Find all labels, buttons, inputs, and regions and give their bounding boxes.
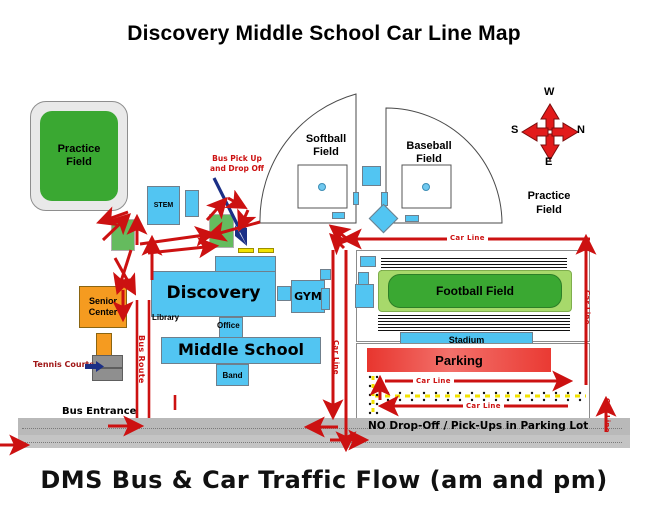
- football-field[interactable]: Football Field: [388, 274, 562, 308]
- building-band[interactable]: Band: [216, 364, 249, 386]
- building-band-label: Band: [223, 371, 243, 380]
- building-middle-school-label: Middle School: [178, 340, 304, 359]
- field-structure-4: [332, 212, 345, 219]
- bus-marker-2: [258, 248, 274, 253]
- building-gym-label: GYM: [294, 290, 322, 303]
- building-annex-1[interactable]: [185, 190, 199, 217]
- car-line-map: Discovery Middle School Car Line Map Pra…: [0, 0, 648, 512]
- tennis-courts-arrow-icon: [85, 360, 105, 374]
- building-senior-center[interactable]: SeniorCenter: [79, 286, 127, 328]
- senior-center-annex: [96, 333, 112, 356]
- football-field-label: Football Field: [436, 284, 514, 298]
- building-stem-label: STEM: [154, 202, 173, 209]
- compass-label-left: S: [511, 124, 518, 136]
- field-structure-2: [353, 192, 359, 205]
- practice-field-left-border: Practice Field: [30, 101, 128, 211]
- compass-label-right: N: [577, 124, 585, 136]
- stadium-annex-1: [360, 256, 376, 267]
- stadium-annex-3: [355, 284, 374, 308]
- car-line-top: Car Line: [447, 234, 488, 242]
- softball-field-label: SoftballField: [295, 133, 357, 159]
- bus-drop-arrow-icon: [205, 176, 253, 248]
- building-office-label: Office: [217, 321, 240, 330]
- no-dropoff-label: NO Drop-Off / Pick-Ups in Parking Lot: [368, 420, 588, 432]
- practice-field-left-label: Practice Field: [58, 143, 101, 168]
- page-title: Discovery Middle School Car Line Map: [0, 22, 648, 46]
- car-line-lot-upper: Car Line: [413, 377, 454, 385]
- car-line-right-outer: Car Line: [583, 290, 591, 325]
- bleachers-bottom: [378, 315, 570, 333]
- bus-pickup-label: Bus Pick Upand Drop Off: [190, 154, 284, 174]
- building-library-label: Library: [152, 313, 179, 322]
- car-line-lot-lower: Car Line: [463, 402, 504, 410]
- page-caption: DMS Bus & Car Traffic Flow (am and pm): [0, 466, 648, 494]
- baseball-field-label: BaseballField: [398, 140, 460, 166]
- compass-label-top: W: [544, 86, 554, 98]
- practice-field-right-label: PracticeField: [513, 190, 585, 218]
- practice-field-left[interactable]: Practice Field: [40, 111, 118, 201]
- building-discovery-label: Discovery: [167, 283, 261, 303]
- road-edgeline: [22, 442, 622, 443]
- bus-route-label: Bus Route: [137, 335, 146, 384]
- parking-lot[interactable]: Parking: [367, 348, 551, 372]
- car-line-right-lower: Car Line: [603, 398, 611, 433]
- compass-rose-icon: W E S N: [512, 88, 588, 172]
- parking-lot-markings: [366, 374, 588, 418]
- building-discovery[interactable]: Discovery: [151, 271, 276, 317]
- building-connector-gym: [277, 286, 291, 301]
- field-structure-1: [362, 166, 381, 186]
- bus-marker-1: [238, 248, 254, 253]
- building-senior-center-label: SeniorCenter: [89, 296, 118, 319]
- parking-label: Parking: [435, 353, 483, 368]
- field-structure-5: [405, 215, 419, 222]
- building-stem[interactable]: STEM: [147, 186, 180, 225]
- building-annex-2: [320, 269, 331, 280]
- building-gym[interactable]: GYM: [291, 280, 325, 313]
- building-middle-school[interactable]: Middle School: [161, 337, 321, 364]
- bus-entrance-label: Bus Entrance: [62, 406, 136, 417]
- practice-area-small-left: [111, 219, 135, 251]
- building-annex-3: [321, 288, 330, 310]
- car-line-center: Car Line: [332, 340, 340, 375]
- compass-label-bottom: E: [545, 156, 552, 168]
